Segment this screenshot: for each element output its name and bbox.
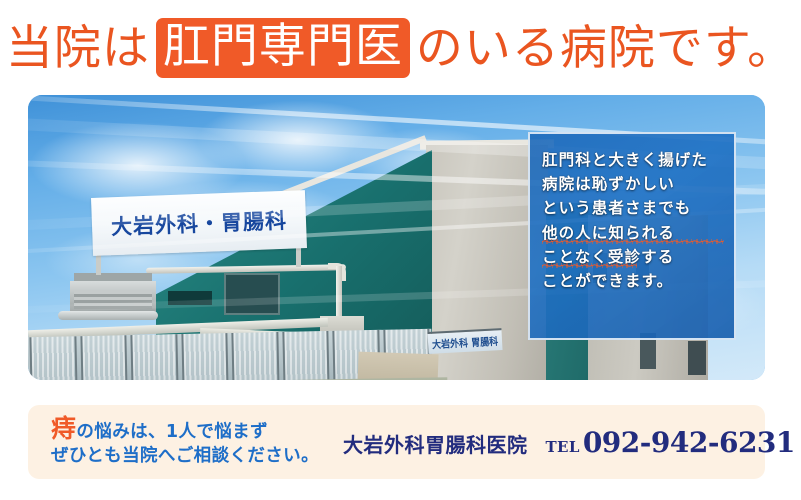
tel-number[interactable]: 092-942-6231: [583, 426, 795, 459]
info-message-panel: 肛門科と大きく揚げた 病院は恥ずかしい という患者さまでも 他の人に知られる こ…: [528, 132, 736, 340]
slogan-line-1: 痔の悩みは、1人で悩まず: [51, 416, 319, 444]
info-panel-line: 他の人に知られる: [542, 221, 724, 245]
info-panel-line-text: という患者さまでも: [542, 199, 691, 217]
info-panel-line: という患者さまでも: [542, 196, 724, 220]
headline-highlight-badge: 肛門専門医: [156, 18, 410, 78]
headline-prefix: 当院は: [6, 25, 150, 72]
info-panel-line: ことができます。: [542, 269, 724, 293]
wall-vent: [168, 291, 212, 305]
rooftop-grill: [74, 291, 152, 309]
wavy-underline: [542, 263, 637, 268]
headline-suffix: のいる病院です。: [416, 25, 795, 72]
window-pane: [29, 336, 77, 380]
info-panel-line: 病院は恥ずかしい: [542, 172, 724, 196]
clinic-building-photo: 大岩外科・胃腸科 大岩外科 胃腸科 肛門科と大きく揚げた 病院は恥ずかしい とい…: [28, 95, 765, 380]
wall-vent: [224, 273, 280, 315]
wall-sign-text: 大岩外科 胃腸科: [432, 333, 499, 351]
beige-wall-section: [357, 352, 438, 380]
info-panel-line: ことなく受診する: [542, 245, 724, 269]
slogan-line-2: ぜひとも当院へご相談ください。: [51, 445, 319, 468]
window-pane: [80, 335, 128, 380]
slogan-line-1-text: の悩みは、1人で悩まず: [76, 422, 268, 442]
clinic-name: 大岩外科胃腸科医院: [343, 429, 528, 458]
rooftop-clinic-sign: 大岩外科・胃腸科: [91, 190, 307, 256]
info-panel-line-text: ことができます。: [542, 272, 673, 290]
info-panel-line: 肛門科と大きく揚げた: [542, 148, 724, 172]
wall-clinic-sign: 大岩外科 胃腸科: [427, 328, 502, 354]
bottom-contact-bar: 痔の悩みは、1人で悩まず ぜひとも当院へご相談ください。 大岩外科胃腸科医院 T…: [28, 405, 765, 479]
tel-label: TEL: [545, 438, 579, 456]
rooftop-sign-text: 大岩外科・胃腸科: [111, 205, 288, 241]
rooftop-duct: [58, 311, 158, 320]
window: [688, 341, 706, 375]
page-headline: 当院は 肛門専門医 のいる病院です。: [0, 14, 801, 82]
slogan-block: 痔の悩みは、1人で悩まず ぜひとも当院へご相談ください。: [28, 416, 319, 468]
window-pane: [130, 334, 178, 380]
window-pane: [282, 331, 330, 380]
window-pane: [181, 333, 229, 380]
info-panel-line-text: 病院は恥ずかしい: [542, 175, 675, 193]
clinic-contact-block: 大岩外科胃腸科医院 TEL 092-942-6231: [321, 426, 795, 459]
window-pane: [231, 332, 279, 380]
slogan-accent-character: 痔: [51, 414, 76, 443]
wavy-underline: [542, 239, 724, 244]
info-panel-line-text: 肛門科と大きく揚げた: [542, 151, 708, 169]
